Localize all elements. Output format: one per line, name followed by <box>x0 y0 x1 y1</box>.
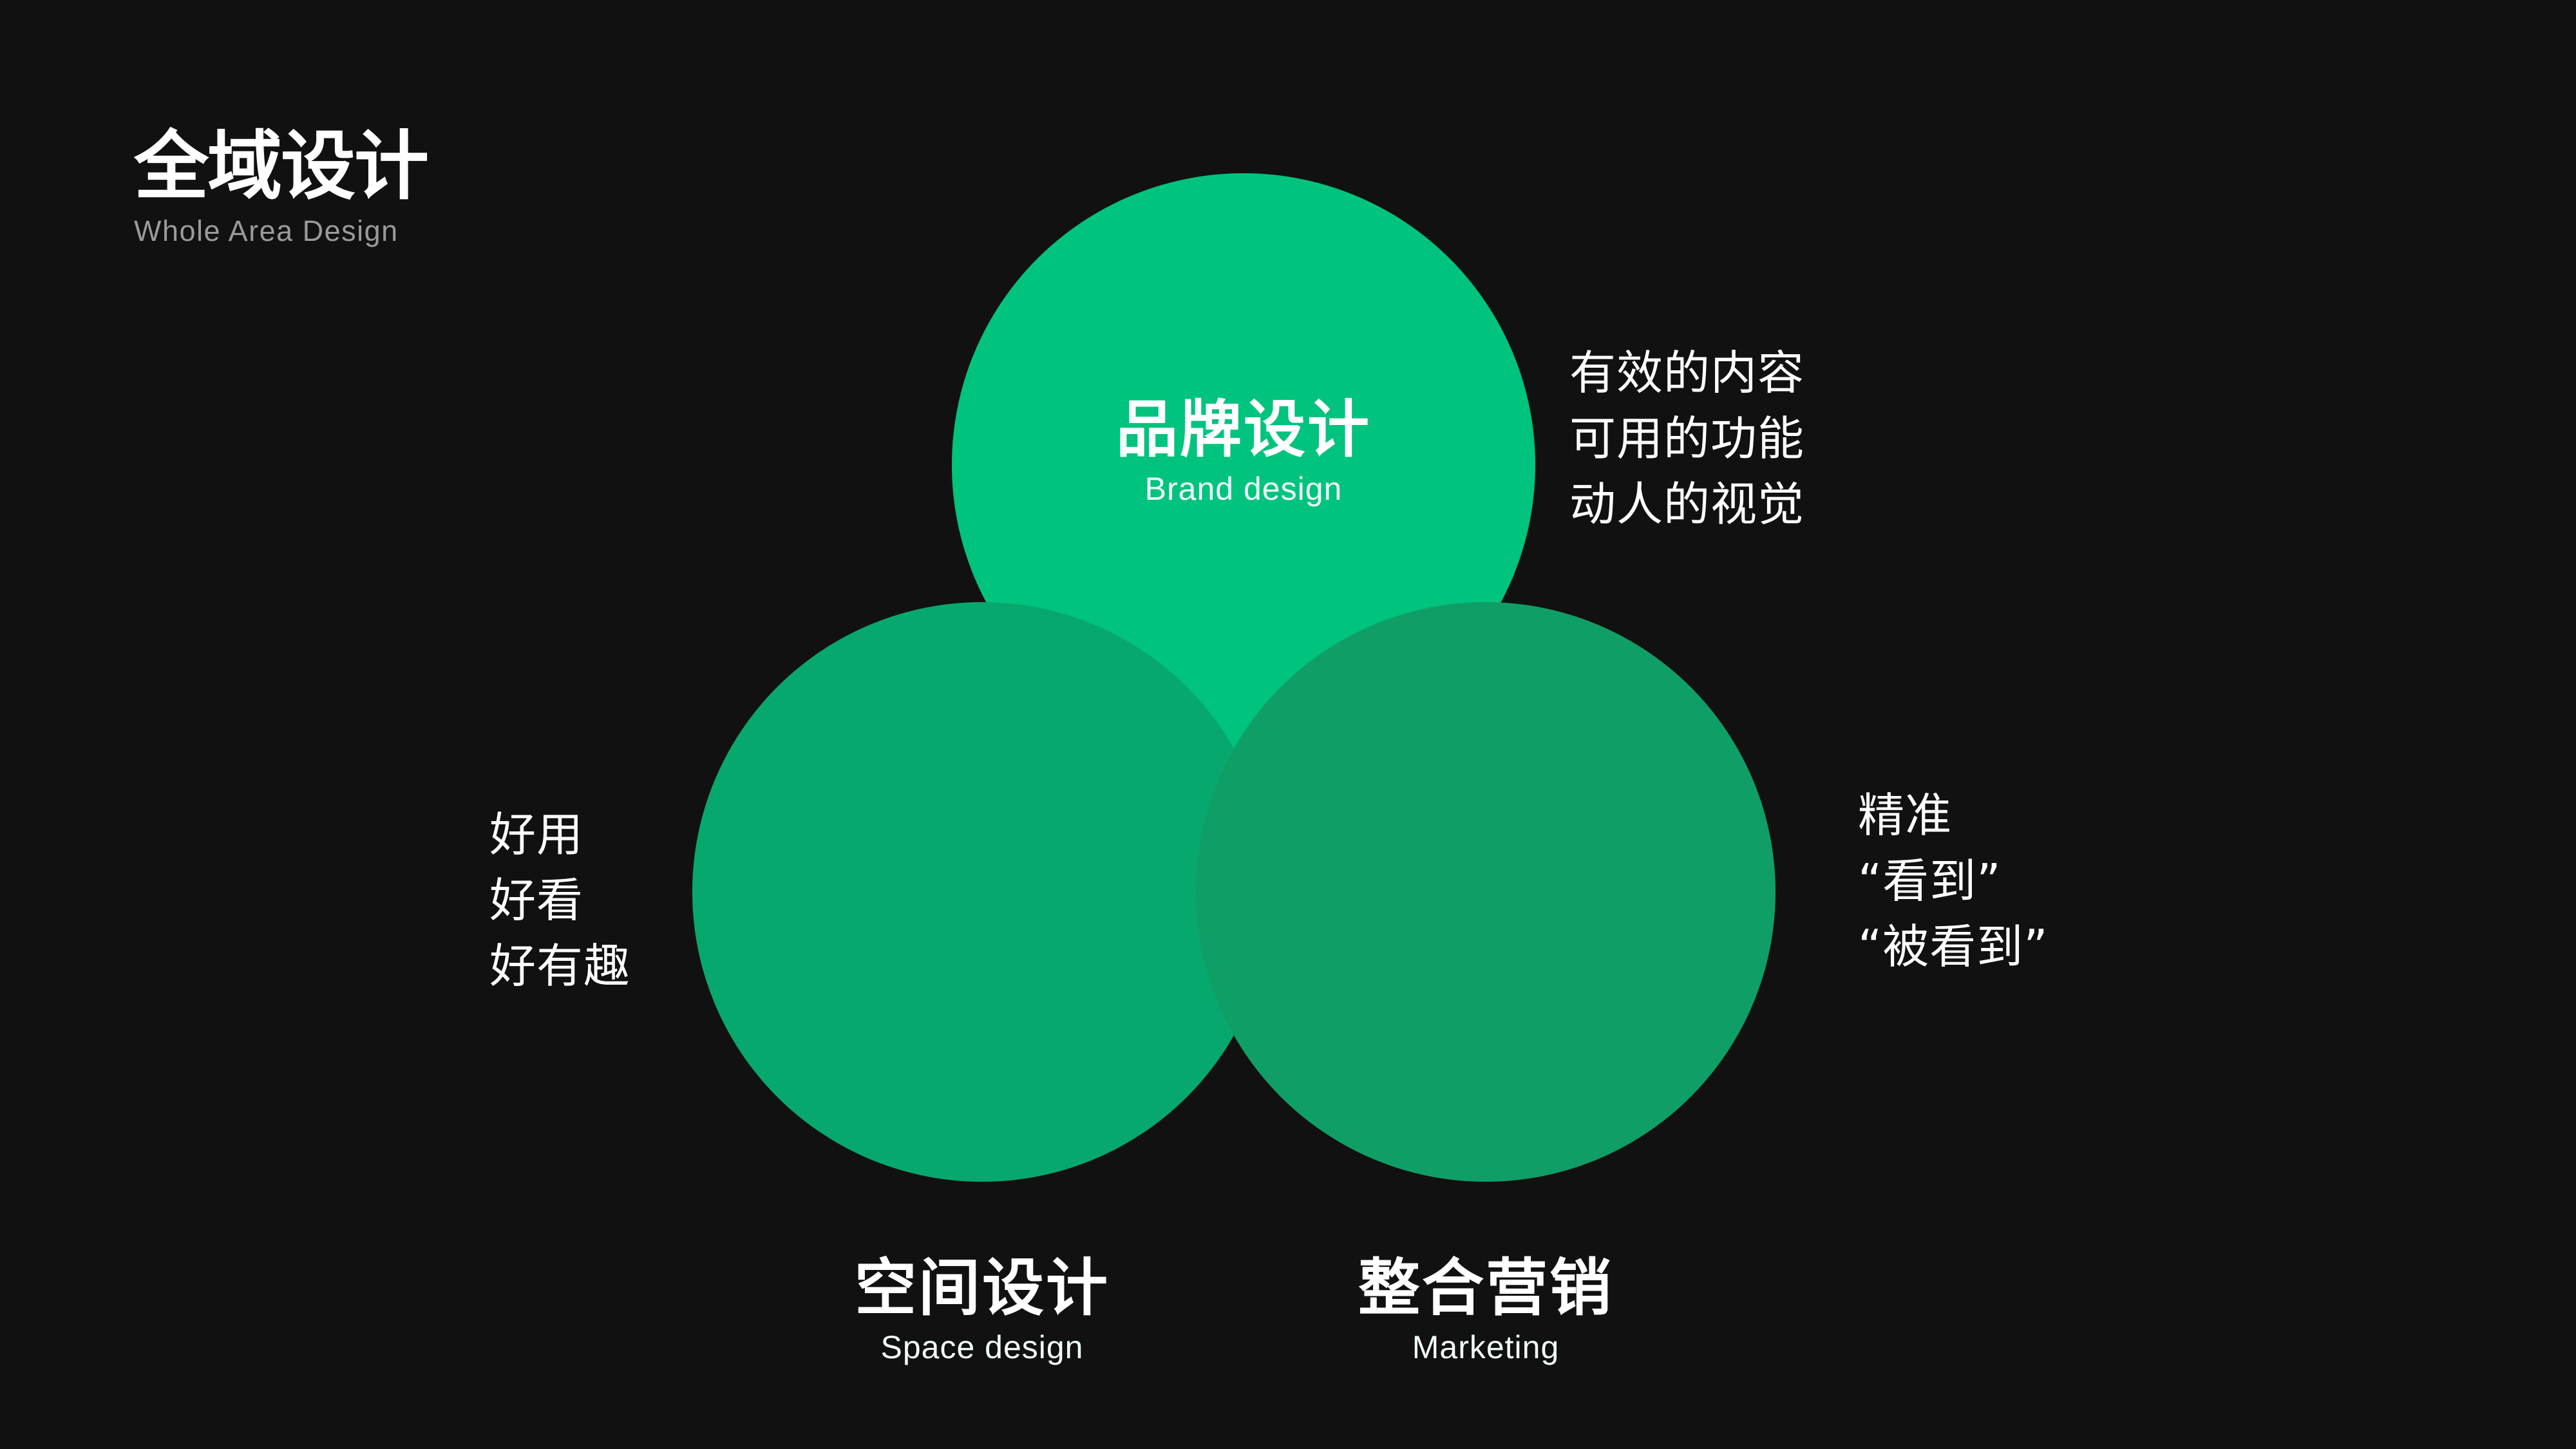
logo-title: 全域设计 <box>134 129 623 205</box>
slide-canvas: 全域设计 Whole Area Design 品牌设计 Brand design… <box>0 0 2576 1449</box>
brand-logo: 全域设计 Whole Area Design <box>134 129 623 247</box>
annotation-brand-design: 有效的内容 可用的功能 动人的视觉 <box>1569 340 1804 538</box>
venn-label-brand-design: 品牌设计 Brand design <box>952 397 1535 507</box>
venn-label-space-design-cn: 空间设计 <box>692 1256 1272 1321</box>
venn-circle-marketing[interactable]: 整合营销 Marketing <box>1196 602 1776 1182</box>
venn-label-brand-design-en: Brand design <box>952 471 1535 507</box>
venn-label-space-design: 空间设计 Space design <box>692 1256 1272 1365</box>
venn-circle-space-design[interactable]: 空间设计 Space design <box>692 602 1272 1182</box>
venn-label-space-design-en: Space design <box>692 1330 1272 1365</box>
annotation-space-design: 好用 好看 好有趣 <box>489 802 630 999</box>
venn-label-marketing-en: Marketing <box>1196 1330 1776 1365</box>
venn-diagram: 品牌设计 Brand design 空间设计 Space design 整合营销… <box>667 155 1806 1211</box>
venn-label-brand-design-cn: 品牌设计 <box>952 397 1535 462</box>
logo-subtitle: Whole Area Design <box>134 215 623 247</box>
venn-label-marketing: 整合营销 Marketing <box>1196 1256 1776 1365</box>
annotation-marketing: 精准 “看到” “被看到” <box>1858 782 2049 980</box>
venn-label-marketing-cn: 整合营销 <box>1196 1256 1776 1321</box>
